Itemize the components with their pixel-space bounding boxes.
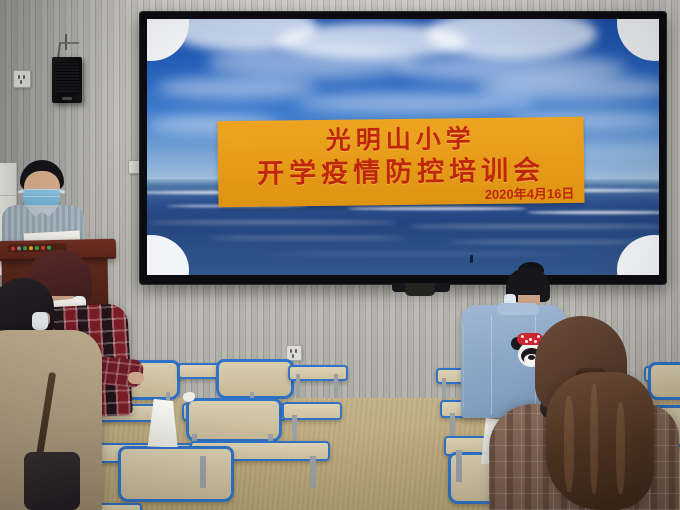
bag [24,452,80,510]
tv-mount-bracket [405,283,435,296]
ponytail [546,372,654,510]
hand [128,372,144,384]
face-mask-icon [32,312,48,330]
slide-title-banner: 光明山小学 开学疫情防控培训会 2020年4月16日 [217,117,584,207]
power-outlet-icon[interactable] [13,70,31,88]
beach-figure [470,255,473,263]
wall-speaker-icon [52,57,82,103]
classroom-scene: 光明山小学 开学疫情防控培训会 2020年4月16日 [0,0,680,510]
slide-title-line2: 开学疫情防控培训会 [218,154,584,190]
tv-screen: 光明山小学 开学疫情防控培训会 2020年4月16日 [147,19,659,275]
wall-mounted-tv[interactable]: 光明山小学 开学疫情防控培训会 2020年4月16日 [139,11,667,285]
slide-title-line1: 光明山小学 [218,124,584,158]
